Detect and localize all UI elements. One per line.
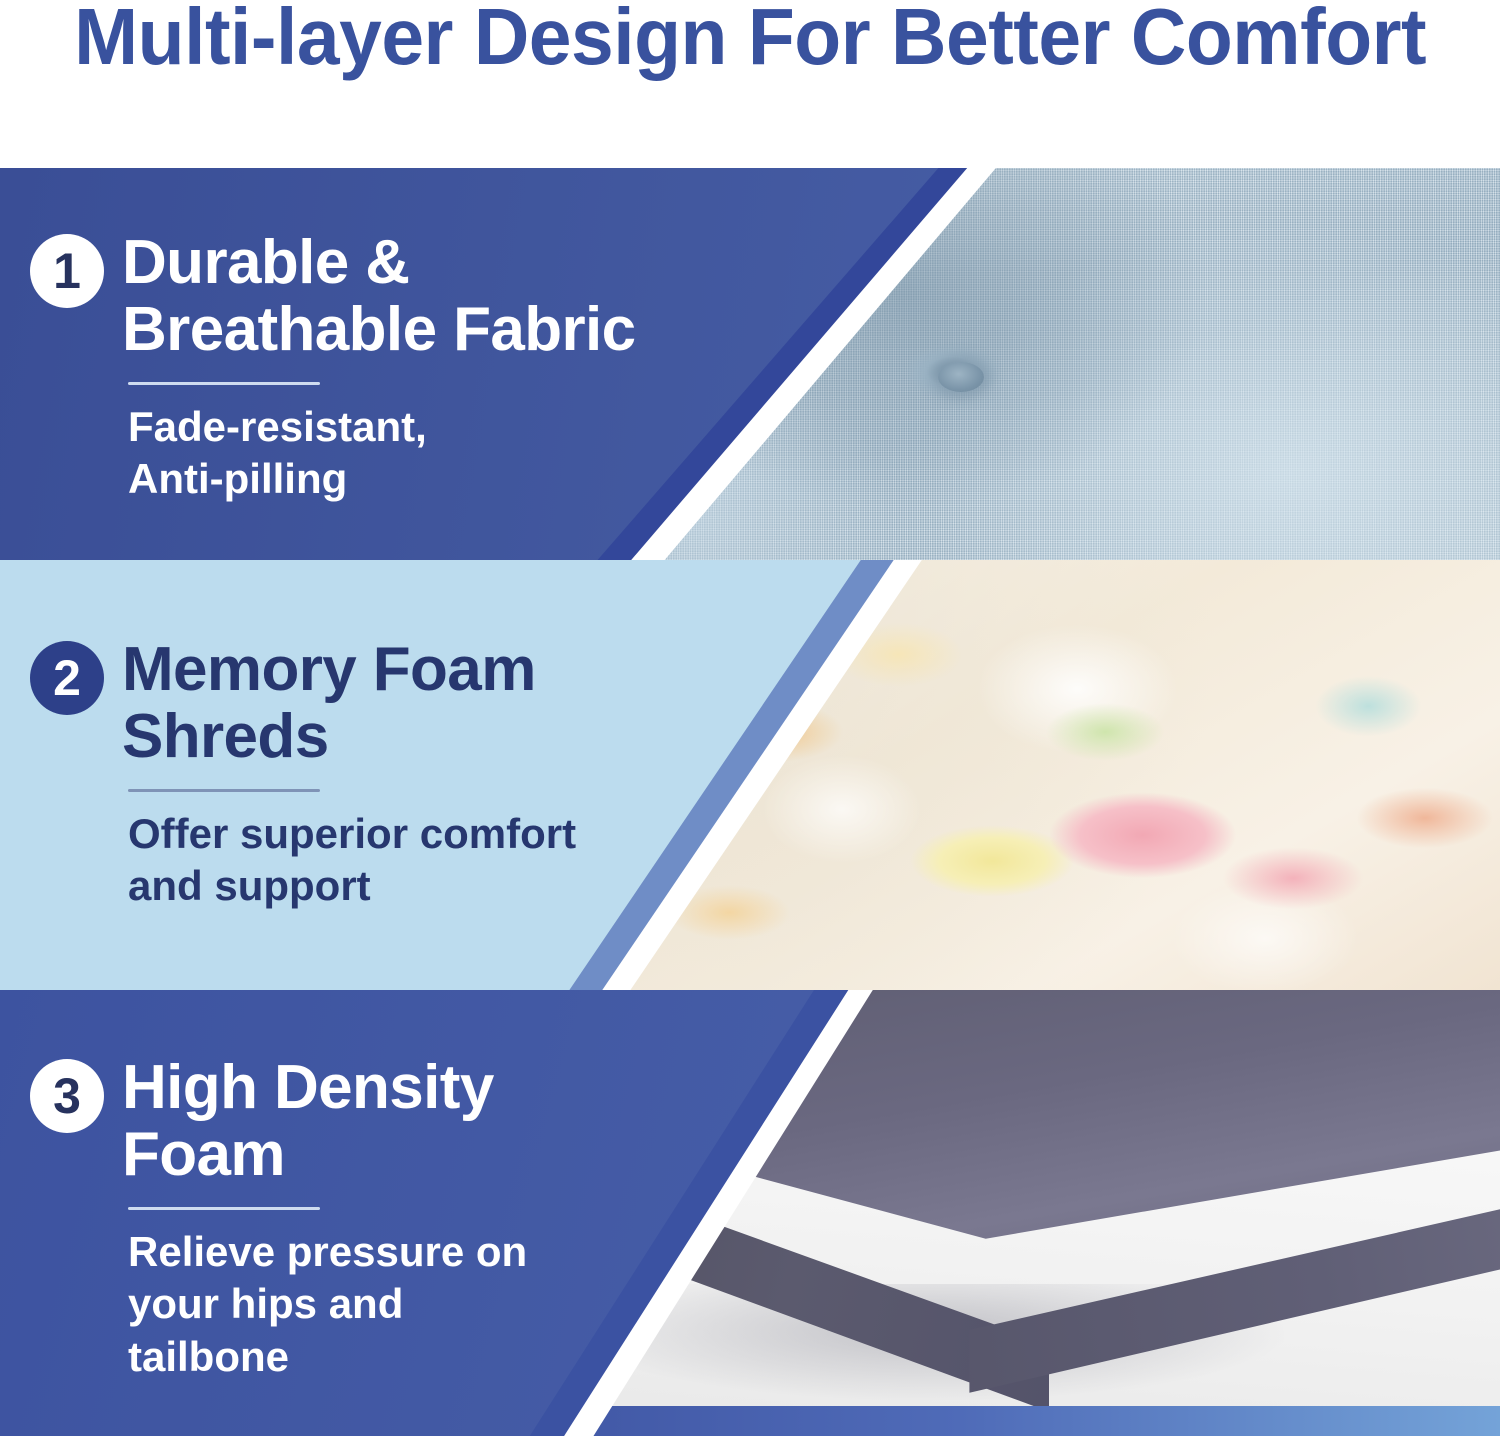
panel-2-photo-area bbox=[560, 560, 1500, 990]
panel-2-subtext-line-1: Offer superior comfort bbox=[128, 808, 690, 861]
panel-2-divider bbox=[128, 789, 320, 792]
panel-1-content: 1 Durable & Breathable Fabric Fade-resis… bbox=[30, 168, 690, 560]
panel-1-heading-line-1: Durable & bbox=[122, 230, 636, 297]
panel-1-heading-row: 1 Durable & Breathable Fabric bbox=[30, 230, 690, 364]
feature-panel-2: 2 Memory Foam Shreds Offer superior comf… bbox=[0, 560, 1500, 990]
panel-2-subtext-line-2: and support bbox=[128, 860, 690, 913]
panel-2-subtext: Offer superior comfort and support bbox=[128, 808, 690, 913]
panel-3-content: 3 High Density Foam Relieve pressure on … bbox=[30, 990, 690, 1436]
panel-3-subtext: Relieve pressure on your hips and tailbo… bbox=[128, 1226, 690, 1384]
panel-2-content: 2 Memory Foam Shreds Offer superior comf… bbox=[30, 560, 690, 990]
panel-3-subtext-line-3: tailbone bbox=[128, 1331, 690, 1384]
panel-3-heading: High Density Foam bbox=[122, 1055, 494, 1189]
panel-3-heading-line-2: Foam bbox=[122, 1122, 494, 1189]
panel-1-heading-line-2: Breathable Fabric bbox=[122, 297, 636, 364]
panel-1-subtext-line-1: Fade-resistant, bbox=[128, 401, 690, 454]
panel-3-subtext-line-1: Relieve pressure on bbox=[128, 1226, 690, 1279]
panel-2-heading-row: 2 Memory Foam Shreds bbox=[30, 637, 690, 771]
panel-3-subtext-line-2: your hips and bbox=[128, 1278, 690, 1331]
header-banner: Multi-layer Design For Better Comfort bbox=[0, 0, 1500, 168]
panel-1-heading: Durable & Breathable Fabric bbox=[122, 230, 636, 364]
panel-2-heading-line-1: Memory Foam bbox=[122, 637, 536, 704]
panel-1-divider bbox=[128, 382, 320, 385]
panel-2-heading: Memory Foam Shreds bbox=[122, 637, 536, 771]
step-number-badge-1: 1 bbox=[30, 234, 104, 308]
panel-3-divider bbox=[128, 1207, 320, 1210]
step-number-badge-3: 3 bbox=[30, 1059, 104, 1133]
product-infographic: Multi-layer Design For Better Comfort 1 … bbox=[0, 0, 1500, 1436]
panel-3-heading-line-1: High Density bbox=[122, 1055, 494, 1122]
panel-1-subtext: Fade-resistant, Anti-pilling bbox=[128, 401, 690, 506]
feature-panel-3: 3 High Density Foam Relieve pressure on … bbox=[0, 990, 1500, 1436]
page-title: Multi-layer Design For Better Comfort bbox=[74, 0, 1426, 78]
panel-1-subtext-line-2: Anti-pilling bbox=[128, 453, 690, 506]
panel-2-heading-line-2: Shreds bbox=[122, 704, 536, 771]
feature-panel-1: 1 Durable & Breathable Fabric Fade-resis… bbox=[0, 168, 1500, 560]
pastel-shredded-memory-foam-fill-photo bbox=[560, 560, 1500, 990]
step-number-badge-2: 2 bbox=[30, 641, 104, 715]
panel-3-heading-row: 3 High Density Foam bbox=[30, 1055, 690, 1189]
